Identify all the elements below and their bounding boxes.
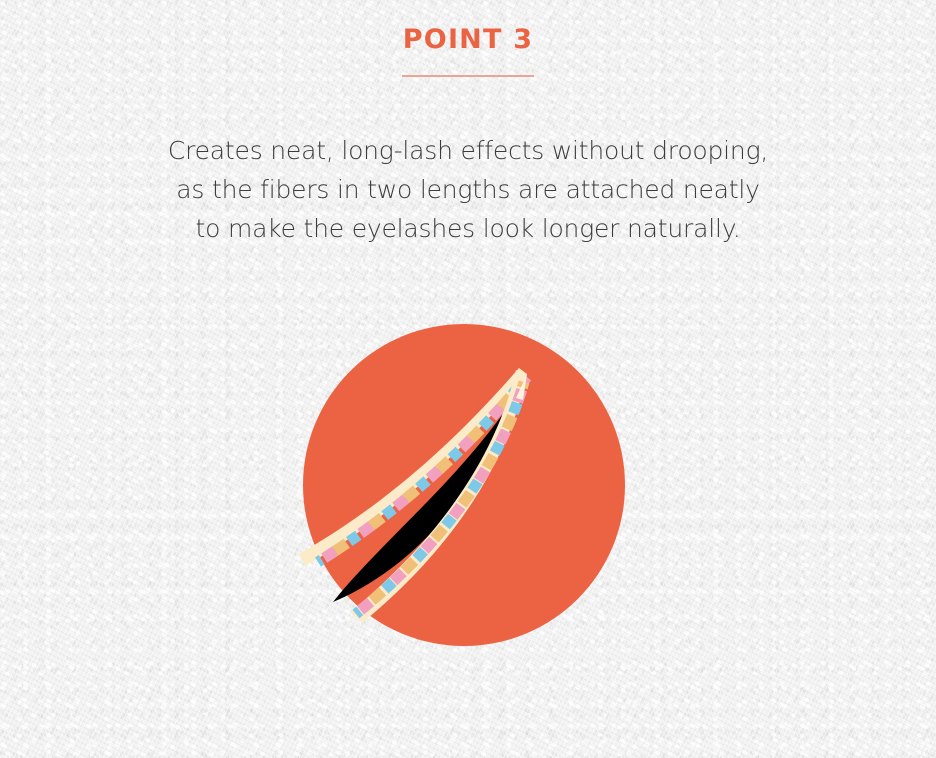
page-root: POINT 3 Creates neat, long-lash effects …: [0, 0, 936, 758]
description-line: to make the eyelashes look longer natura…: [0, 209, 936, 248]
description-text: Creates neat, long-lash effects without …: [0, 131, 936, 248]
page-title: POINT 3: [0, 26, 936, 53]
illustration-canvas: [0, 296, 936, 696]
header: POINT 3: [0, 26, 936, 77]
eyelash-crescent-illustration: [0, 296, 936, 696]
title-underline-divider: [402, 75, 534, 77]
description-line: Creates neat, long-lash effects without …: [0, 131, 936, 170]
description-line: as the fibers in two lengths are attache…: [0, 170, 936, 209]
